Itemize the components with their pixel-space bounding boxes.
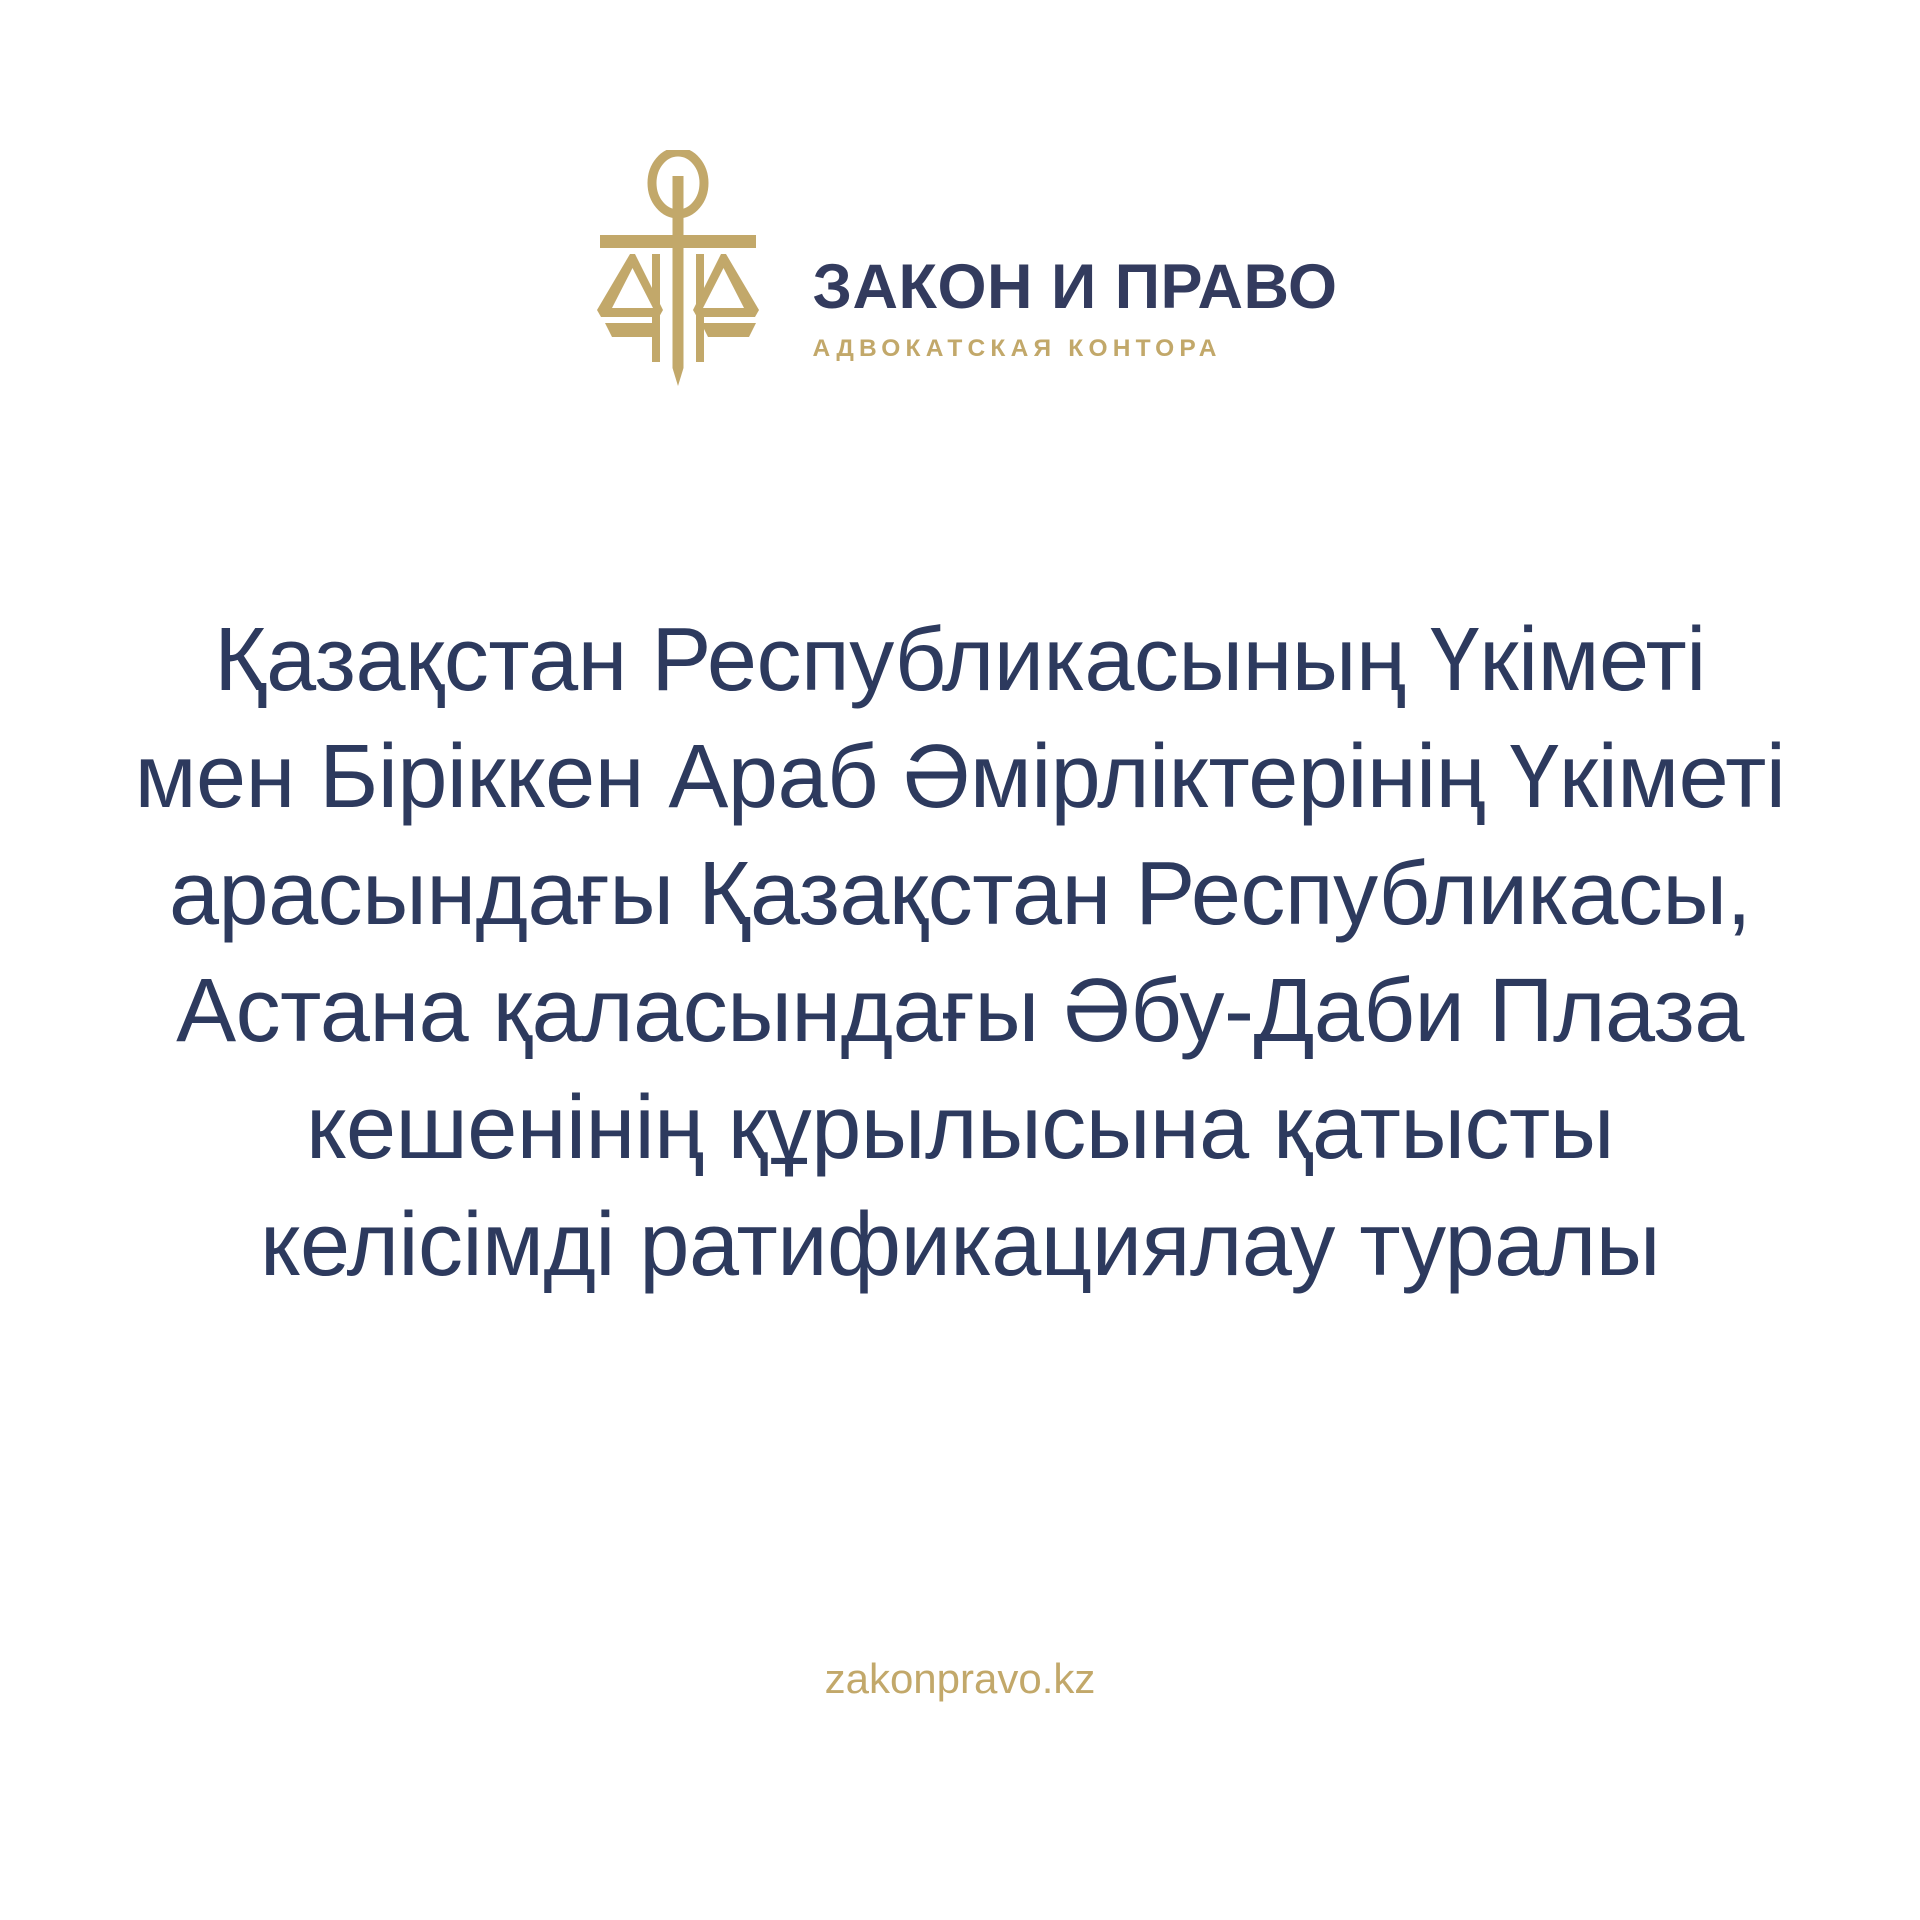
brand-title: ЗАКОН И ПРАВО (813, 255, 1338, 319)
brand-wordmark: ЗАКОН И ПРАВО АДВОКАТСКАЯ КОНТОРА (813, 197, 1338, 363)
footer: zakonpravo.kz (0, 1655, 1920, 1703)
scales-of-justice-sword-icon (583, 150, 773, 410)
page-title: Қазақстан Республикасының Үкіметі мен Бі… (130, 602, 1790, 1304)
brand-subtitle: АДВОКАТСКАЯ КОНТОРА (813, 335, 1222, 363)
poster-canvas: ЗАКОН И ПРАВО АДВОКАТСКАЯ КОНТОРА Қазақс… (0, 0, 1920, 1920)
headline-container: Қазақстан Республикасының Үкіметі мен Бі… (110, 542, 1810, 1365)
logo-mark (583, 150, 773, 410)
site-url-label: zakonpravo.kz (825, 1655, 1096, 1702)
brand-header: ЗАКОН И ПРАВО АДВОКАТСКАЯ КОНТОРА (583, 150, 1338, 410)
